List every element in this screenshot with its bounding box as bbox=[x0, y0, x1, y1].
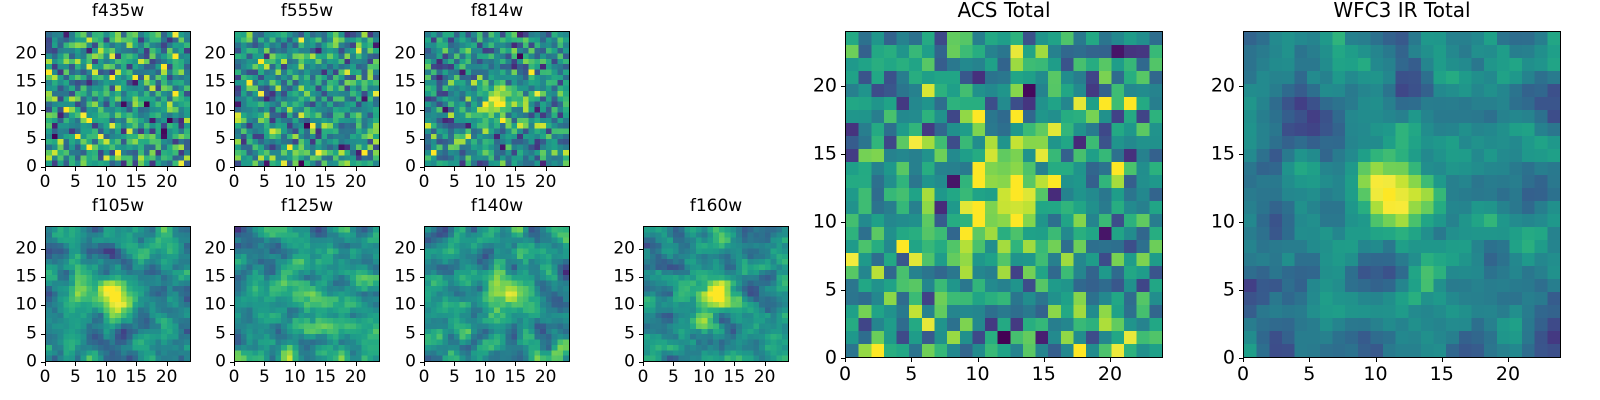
xtick-f160w-4 bbox=[765, 362, 766, 366]
xtick-wfc3-ir-total-2 bbox=[1376, 358, 1377, 362]
yticklabel-f125w-1: 5 bbox=[190, 325, 226, 342]
ytick-f435w-0 bbox=[41, 167, 45, 168]
ytick-f435w-4 bbox=[41, 54, 45, 55]
yticklabel-wfc3-ir-total-4: 20 bbox=[1199, 76, 1235, 95]
xticklabel-f555w-2: 10 bbox=[284, 174, 306, 191]
panel-f814w: f814w0510152005101520 bbox=[380, 3, 578, 197]
panel-title-f160w: f160w bbox=[643, 198, 789, 215]
panel-acs-total: ACS Total0510152005101520 bbox=[801, 0, 1171, 388]
xtick-f555w-1 bbox=[264, 167, 265, 171]
xtick-wfc3-ir-total-1 bbox=[1309, 358, 1310, 362]
xtick-f160w-1 bbox=[673, 362, 674, 366]
xticklabel-f160w-4: 20 bbox=[754, 369, 776, 386]
ytick-acs-total-0 bbox=[841, 358, 845, 359]
xticklabel-f555w-0: 0 bbox=[229, 174, 240, 191]
panel-f160w: f160w0510152005101520 bbox=[599, 198, 797, 392]
ytick-f814w-4 bbox=[420, 54, 424, 55]
xticklabel-wfc3-ir-total-0: 0 bbox=[1237, 365, 1249, 384]
ytick-f105w-1 bbox=[41, 334, 45, 335]
xticklabel-f140w-0: 0 bbox=[419, 369, 430, 386]
ytick-f125w-0 bbox=[230, 362, 234, 363]
xticklabel-f435w-0: 0 bbox=[40, 174, 51, 191]
xtick-f555w-3 bbox=[325, 167, 326, 171]
panel-f555w: f555w0510152005101520 bbox=[190, 3, 388, 197]
panel-title-f125w: f125w bbox=[234, 198, 380, 215]
yticklabel-f435w-0: 0 bbox=[1, 159, 37, 176]
ytick-f160w-2 bbox=[639, 305, 643, 306]
yticklabel-f125w-0: 0 bbox=[190, 354, 226, 371]
ytick-f555w-3 bbox=[230, 82, 234, 83]
ytick-wfc3-ir-total-0 bbox=[1239, 358, 1243, 359]
xtick-f140w-2 bbox=[485, 362, 486, 366]
panel-title-f435w: f435w bbox=[45, 3, 191, 20]
xticklabel-wfc3-ir-total-1: 5 bbox=[1303, 365, 1315, 384]
xtick-f125w-1 bbox=[264, 362, 265, 366]
yticklabel-wfc3-ir-total-3: 15 bbox=[1199, 144, 1235, 163]
yticklabel-f814w-2: 10 bbox=[380, 102, 416, 119]
xticklabel-f105w-4: 20 bbox=[156, 369, 178, 386]
xtick-f814w-2 bbox=[485, 167, 486, 171]
xtick-acs-total-2 bbox=[978, 358, 979, 362]
panel-title-wfc3-ir-total: WFC3 IR Total bbox=[1243, 0, 1561, 20]
ytick-f814w-3 bbox=[420, 82, 424, 83]
xtick-f140w-0 bbox=[424, 362, 425, 366]
yticklabel-f555w-2: 10 bbox=[190, 102, 226, 119]
ytick-f125w-2 bbox=[230, 305, 234, 306]
xtick-f160w-3 bbox=[734, 362, 735, 366]
yticklabel-f160w-3: 15 bbox=[599, 269, 635, 286]
xticklabel-f125w-4: 20 bbox=[345, 369, 367, 386]
ytick-wfc3-ir-total-3 bbox=[1239, 154, 1243, 155]
xtick-acs-total-4 bbox=[1110, 358, 1111, 362]
heatmap-f814w bbox=[424, 31, 570, 167]
heatmap-f435w bbox=[45, 31, 191, 167]
xtick-acs-total-1 bbox=[911, 358, 912, 362]
ytick-f140w-2 bbox=[420, 305, 424, 306]
yticklabel-f105w-0: 0 bbox=[1, 354, 37, 371]
yticklabel-f435w-1: 5 bbox=[1, 130, 37, 147]
xticklabel-wfc3-ir-total-3: 15 bbox=[1430, 365, 1454, 384]
heatmap-acs-total bbox=[845, 31, 1163, 358]
xtick-f555w-0 bbox=[234, 167, 235, 171]
xticklabel-f105w-0: 0 bbox=[40, 369, 51, 386]
xtick-f435w-3 bbox=[136, 167, 137, 171]
yticklabel-f125w-3: 15 bbox=[190, 269, 226, 286]
xticklabel-f105w-2: 10 bbox=[95, 369, 117, 386]
panel-f140w: f140w0510152005101520 bbox=[380, 198, 578, 392]
yticklabel-acs-total-3: 15 bbox=[801, 144, 837, 163]
xticklabel-f105w-3: 15 bbox=[125, 369, 147, 386]
xtick-acs-total-3 bbox=[1044, 358, 1045, 362]
xtick-wfc3-ir-total-4 bbox=[1508, 358, 1509, 362]
yticklabel-f555w-4: 20 bbox=[190, 45, 226, 62]
yticklabel-f435w-4: 20 bbox=[1, 45, 37, 62]
xticklabel-f140w-1: 5 bbox=[449, 369, 460, 386]
xtick-f814w-1 bbox=[454, 167, 455, 171]
yticklabel-acs-total-4: 20 bbox=[801, 76, 837, 95]
ytick-f555w-0 bbox=[230, 167, 234, 168]
xtick-f125w-4 bbox=[356, 362, 357, 366]
xtick-f814w-4 bbox=[546, 167, 547, 171]
yticklabel-f140w-2: 10 bbox=[380, 297, 416, 314]
panel-f435w: f435w0510152005101520 bbox=[1, 3, 199, 197]
figure-canvas: f435w0510152005101520f555w05101520051015… bbox=[0, 0, 1600, 400]
xtick-f555w-2 bbox=[295, 167, 296, 171]
xtick-f435w-2 bbox=[106, 167, 107, 171]
ytick-f125w-3 bbox=[230, 277, 234, 278]
yticklabel-f140w-4: 20 bbox=[380, 240, 416, 257]
xtick-f140w-3 bbox=[515, 362, 516, 366]
yticklabel-f555w-0: 0 bbox=[190, 159, 226, 176]
xtick-f105w-3 bbox=[136, 362, 137, 366]
xticklabel-f140w-2: 10 bbox=[474, 369, 496, 386]
yticklabel-f105w-2: 10 bbox=[1, 297, 37, 314]
yticklabel-f160w-1: 5 bbox=[599, 325, 635, 342]
xtick-f435w-4 bbox=[167, 167, 168, 171]
xticklabel-f160w-3: 15 bbox=[723, 369, 745, 386]
panel-title-f555w: f555w bbox=[234, 3, 380, 20]
ytick-acs-total-1 bbox=[841, 290, 845, 291]
xticklabel-f435w-3: 15 bbox=[125, 174, 147, 191]
yticklabel-f160w-0: 0 bbox=[599, 354, 635, 371]
yticklabel-wfc3-ir-total-1: 5 bbox=[1199, 280, 1235, 299]
yticklabel-f814w-3: 15 bbox=[380, 74, 416, 91]
ytick-f160w-4 bbox=[639, 249, 643, 250]
yticklabel-acs-total-0: 0 bbox=[801, 349, 837, 368]
ytick-f555w-2 bbox=[230, 110, 234, 111]
yticklabel-f140w-0: 0 bbox=[380, 354, 416, 371]
xtick-f105w-1 bbox=[75, 362, 76, 366]
panel-wfc3-ir-total: WFC3 IR Total0510152005101520 bbox=[1199, 0, 1569, 388]
xticklabel-f160w-0: 0 bbox=[638, 369, 649, 386]
yticklabel-f105w-1: 5 bbox=[1, 325, 37, 342]
xticklabel-f555w-3: 15 bbox=[314, 174, 336, 191]
ytick-f140w-1 bbox=[420, 334, 424, 335]
yticklabel-f435w-2: 10 bbox=[1, 102, 37, 119]
ytick-acs-total-2 bbox=[841, 222, 845, 223]
ytick-f555w-4 bbox=[230, 54, 234, 55]
ytick-f814w-1 bbox=[420, 139, 424, 140]
xticklabel-wfc3-ir-total-4: 20 bbox=[1496, 365, 1520, 384]
yticklabel-wfc3-ir-total-0: 0 bbox=[1199, 349, 1235, 368]
ytick-f140w-0 bbox=[420, 362, 424, 363]
xticklabel-acs-total-0: 0 bbox=[839, 365, 851, 384]
yticklabel-f125w-2: 10 bbox=[190, 297, 226, 314]
xticklabel-f140w-4: 20 bbox=[535, 369, 557, 386]
xticklabel-f435w-1: 5 bbox=[70, 174, 81, 191]
ytick-f814w-2 bbox=[420, 110, 424, 111]
ytick-f160w-0 bbox=[639, 362, 643, 363]
xtick-f125w-2 bbox=[295, 362, 296, 366]
xticklabel-f125w-1: 5 bbox=[259, 369, 270, 386]
yticklabel-f140w-1: 5 bbox=[380, 325, 416, 342]
xtick-f140w-1 bbox=[454, 362, 455, 366]
ytick-f125w-1 bbox=[230, 334, 234, 335]
yticklabel-acs-total-1: 5 bbox=[801, 280, 837, 299]
ytick-f435w-1 bbox=[41, 139, 45, 140]
xtick-f435w-0 bbox=[45, 167, 46, 171]
xtick-f125w-0 bbox=[234, 362, 235, 366]
ytick-f555w-1 bbox=[230, 139, 234, 140]
heatmap-f160w bbox=[643, 226, 789, 362]
ytick-wfc3-ir-total-4 bbox=[1239, 86, 1243, 87]
xtick-f814w-3 bbox=[515, 167, 516, 171]
yticklabel-f125w-4: 20 bbox=[190, 240, 226, 257]
yticklabel-acs-total-2: 10 bbox=[801, 212, 837, 231]
xticklabel-wfc3-ir-total-2: 10 bbox=[1363, 365, 1387, 384]
xtick-f105w-2 bbox=[106, 362, 107, 366]
xticklabel-acs-total-3: 15 bbox=[1032, 365, 1056, 384]
ytick-wfc3-ir-total-2 bbox=[1239, 222, 1243, 223]
panel-title-acs-total: ACS Total bbox=[845, 0, 1163, 20]
yticklabel-f814w-0: 0 bbox=[380, 159, 416, 176]
yticklabel-f160w-2: 10 bbox=[599, 297, 635, 314]
heatmap-f125w bbox=[234, 226, 380, 362]
heatmap-wfc3-ir-total bbox=[1243, 31, 1561, 358]
heatmap-f105w bbox=[45, 226, 191, 362]
ytick-f105w-0 bbox=[41, 362, 45, 363]
xticklabel-f105w-1: 5 bbox=[70, 369, 81, 386]
xticklabel-f140w-3: 15 bbox=[504, 369, 526, 386]
yticklabel-f555w-3: 15 bbox=[190, 74, 226, 91]
xticklabel-f814w-3: 15 bbox=[504, 174, 526, 191]
heatmap-f555w bbox=[234, 31, 380, 167]
panel-title-f140w: f140w bbox=[424, 198, 570, 215]
xticklabel-f160w-2: 10 bbox=[693, 369, 715, 386]
xtick-f160w-2 bbox=[704, 362, 705, 366]
ytick-f105w-3 bbox=[41, 277, 45, 278]
xticklabel-f435w-2: 10 bbox=[95, 174, 117, 191]
xticklabel-f125w-2: 10 bbox=[284, 369, 306, 386]
yticklabel-f435w-3: 15 bbox=[1, 74, 37, 91]
xticklabel-f814w-2: 10 bbox=[474, 174, 496, 191]
ytick-f105w-2 bbox=[41, 305, 45, 306]
ytick-f140w-3 bbox=[420, 277, 424, 278]
xticklabel-f160w-1: 5 bbox=[668, 369, 679, 386]
yticklabel-f814w-4: 20 bbox=[380, 45, 416, 62]
xtick-f160w-0 bbox=[643, 362, 644, 366]
panel-title-f105w: f105w bbox=[45, 198, 191, 215]
xtick-f555w-4 bbox=[356, 167, 357, 171]
xticklabel-f814w-0: 0 bbox=[419, 174, 430, 191]
ytick-acs-total-4 bbox=[841, 86, 845, 87]
ytick-wfc3-ir-total-1 bbox=[1239, 290, 1243, 291]
xticklabel-f435w-4: 20 bbox=[156, 174, 178, 191]
ytick-f125w-4 bbox=[230, 249, 234, 250]
xtick-f814w-0 bbox=[424, 167, 425, 171]
xtick-f105w-4 bbox=[167, 362, 168, 366]
xticklabel-acs-total-2: 10 bbox=[965, 365, 989, 384]
xticklabel-f125w-0: 0 bbox=[229, 369, 240, 386]
xtick-wfc3-ir-total-3 bbox=[1442, 358, 1443, 362]
xticklabel-acs-total-4: 20 bbox=[1098, 365, 1122, 384]
panel-f105w: f105w0510152005101520 bbox=[1, 198, 199, 392]
yticklabel-f140w-3: 15 bbox=[380, 269, 416, 286]
yticklabel-f555w-1: 5 bbox=[190, 130, 226, 147]
ytick-acs-total-3 bbox=[841, 154, 845, 155]
yticklabel-f160w-4: 20 bbox=[599, 240, 635, 257]
yticklabel-f814w-1: 5 bbox=[380, 130, 416, 147]
ytick-f435w-3 bbox=[41, 82, 45, 83]
xticklabel-f125w-3: 15 bbox=[314, 369, 336, 386]
ytick-f435w-2 bbox=[41, 110, 45, 111]
xtick-wfc3-ir-total-0 bbox=[1243, 358, 1244, 362]
ytick-f105w-4 bbox=[41, 249, 45, 250]
ytick-f140w-4 bbox=[420, 249, 424, 250]
yticklabel-f105w-3: 15 bbox=[1, 269, 37, 286]
xtick-f140w-4 bbox=[546, 362, 547, 366]
ytick-f160w-1 bbox=[639, 334, 643, 335]
xticklabel-f555w-4: 20 bbox=[345, 174, 367, 191]
xtick-f105w-0 bbox=[45, 362, 46, 366]
xticklabel-acs-total-1: 5 bbox=[905, 365, 917, 384]
ytick-f160w-3 bbox=[639, 277, 643, 278]
xticklabel-f814w-1: 5 bbox=[449, 174, 460, 191]
xticklabel-f814w-4: 20 bbox=[535, 174, 557, 191]
panel-f125w: f125w0510152005101520 bbox=[190, 198, 388, 392]
heatmap-f140w bbox=[424, 226, 570, 362]
xtick-f435w-1 bbox=[75, 167, 76, 171]
xtick-f125w-3 bbox=[325, 362, 326, 366]
xtick-acs-total-0 bbox=[845, 358, 846, 362]
xticklabel-f555w-1: 5 bbox=[259, 174, 270, 191]
panel-title-f814w: f814w bbox=[424, 3, 570, 20]
ytick-f814w-0 bbox=[420, 167, 424, 168]
yticklabel-f105w-4: 20 bbox=[1, 240, 37, 257]
yticklabel-wfc3-ir-total-2: 10 bbox=[1199, 212, 1235, 231]
